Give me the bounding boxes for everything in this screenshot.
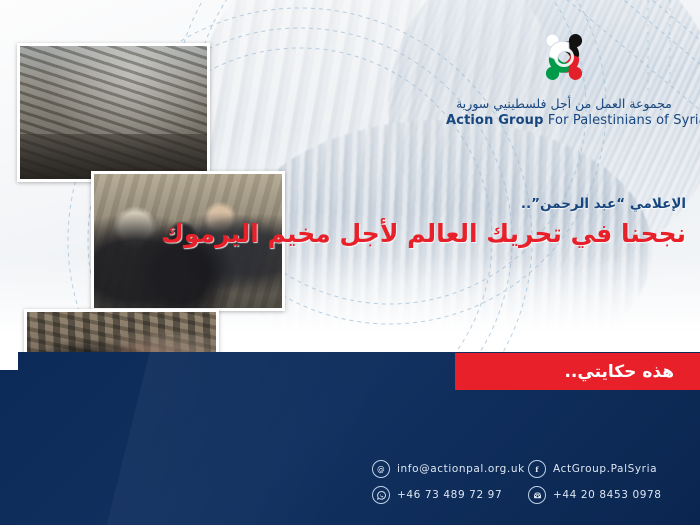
brand-name-english-bold: Action Group (446, 113, 544, 128)
footer-navy-band: هذه حكايتي.. @ info@actionpal.org.uk f A… (0, 352, 700, 525)
brand-logo-block: مجموعة العمل من أجل فلسطينيي سورية Actio… (446, 26, 682, 128)
contact-email-text: info@actionpal.org.uk (397, 463, 525, 475)
facebook-icon: f (528, 460, 546, 478)
contact-whatsapp-text: +46 73 489 72 97 (397, 489, 502, 501)
contact-phone-text: +44 20 8453 0978 (553, 489, 662, 501)
brand-name-english: Action Group For Palestinians of Syria (446, 113, 682, 128)
red-banner: هذه حكايتي.. (455, 353, 700, 390)
photo-destroyed-buildings (17, 43, 210, 182)
headline-block: الإعلامي “عبد الرحمن”.. نجحنا في تحريك ا… (76, 196, 686, 249)
email-at-icon: @ (372, 460, 390, 478)
telephone-icon (528, 486, 546, 504)
action-group-circle-figures-logo (522, 26, 606, 88)
brand-name-arabic: مجموعة العمل من أجل فلسطينيي سورية (446, 96, 682, 111)
contact-info: @ info@actionpal.org.uk f ActGroup.PalSy… (372, 456, 688, 508)
red-banner-text: هذه حكايتي.. (564, 362, 674, 382)
brand-name-english-rest: For Palestinians of Syria (544, 113, 700, 128)
whatsapp-icon (372, 486, 390, 504)
corner-notch (0, 352, 18, 370)
svg-text:f: f (535, 465, 539, 474)
svg-text:@: @ (377, 465, 385, 474)
headline-main: نجحنا في تحريك العالم لأجل مخيم اليرموك (76, 218, 686, 249)
contact-whatsapp[interactable]: +46 73 489 72 97 (372, 486, 522, 504)
contact-facebook[interactable]: f ActGroup.PalSyria (528, 460, 688, 478)
contact-email[interactable]: @ info@actionpal.org.uk (372, 460, 522, 478)
contact-facebook-text: ActGroup.PalSyria (553, 463, 657, 475)
headline-kicker: الإعلامي “عبد الرحمن”.. (76, 196, 686, 214)
poster: مجموعة العمل من أجل فلسطينيي سورية Actio… (0, 0, 700, 525)
contact-phone[interactable]: +44 20 8453 0978 (528, 486, 688, 504)
